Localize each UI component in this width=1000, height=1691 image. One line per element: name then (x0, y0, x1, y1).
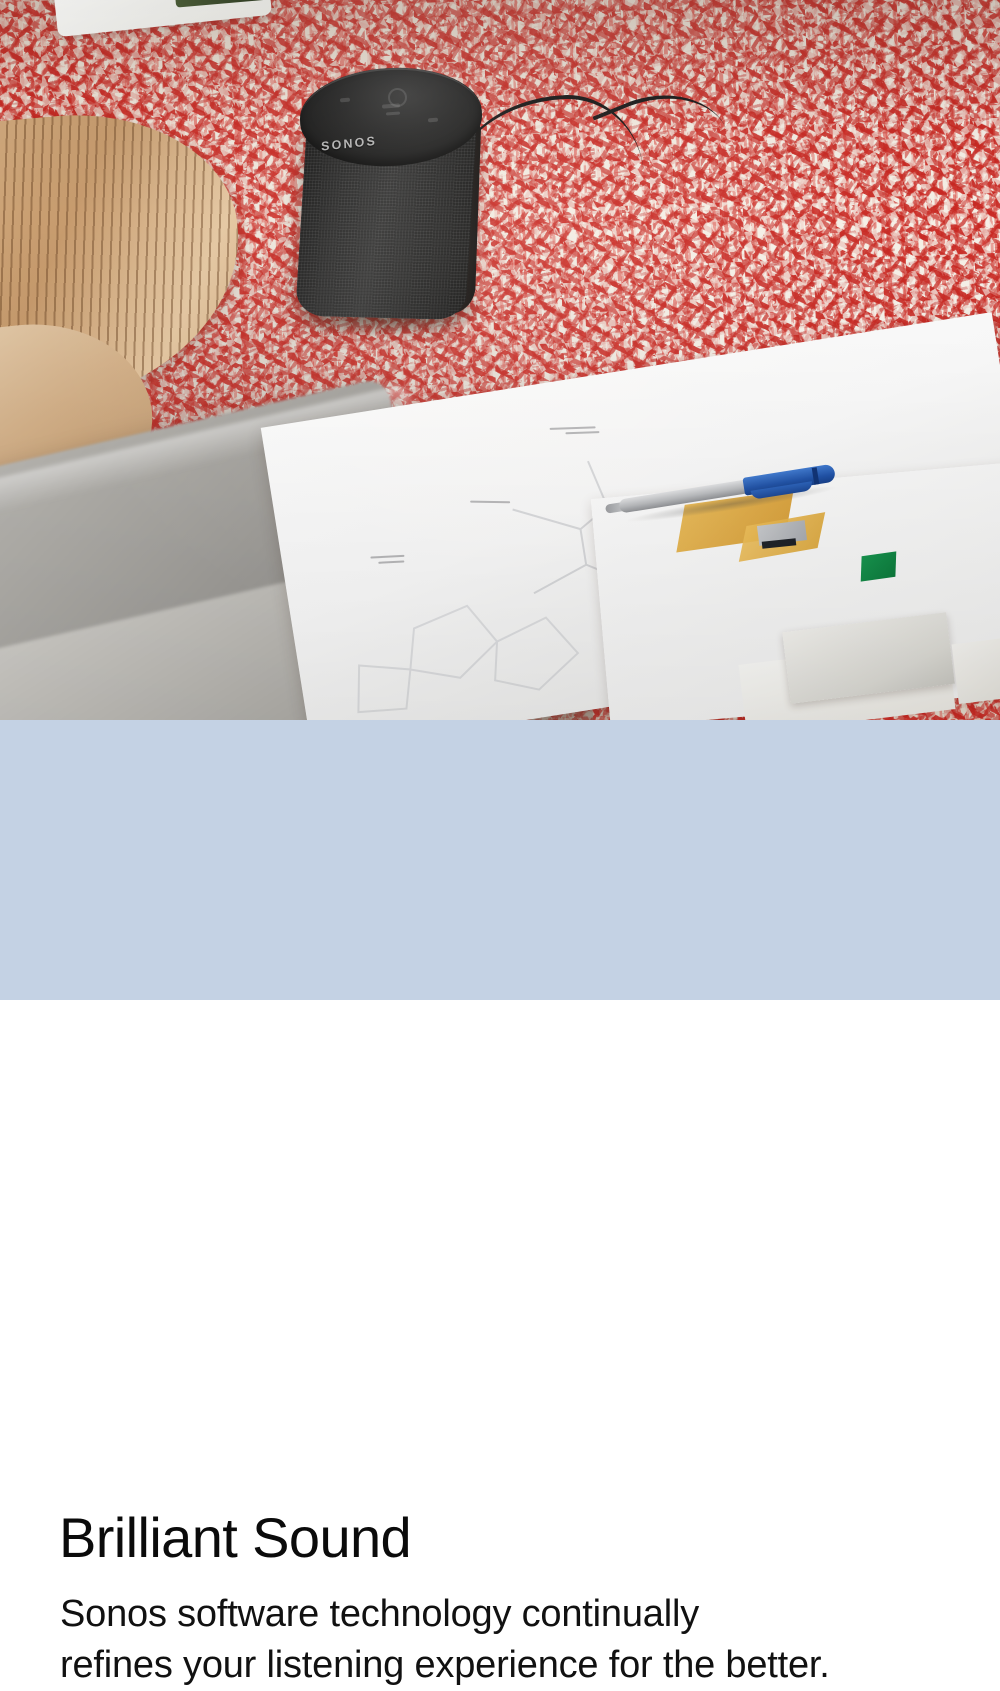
paper-pencil-mark (370, 555, 404, 559)
product-lifestyle-photo: SONOS (0, 0, 1000, 720)
subtitle-line-2: refines your listening experience for th… (60, 1640, 960, 1691)
foam-block-corner (952, 636, 1000, 704)
green-sticker (861, 551, 897, 581)
next-track-icon[interactable] (428, 118, 438, 123)
paper-pencil-mark (565, 431, 599, 434)
paper-pencil-mark (378, 560, 404, 563)
paper-pencil-mark (470, 501, 510, 504)
caption-panel: Brilliant Sound Sonos software technolog… (0, 720, 1000, 1000)
paper-pencil-mark (550, 426, 596, 430)
page-title: Brilliant Sound (59, 1510, 411, 1566)
promo-card: SONOS Brilliant Sound Sonos software tec… (0, 0, 1000, 1000)
page-subtitle: Sonos software technology continually re… (60, 1589, 960, 1691)
previous-track-icon[interactable] (340, 98, 350, 103)
subtitle-line-1: Sonos software technology continually (60, 1589, 960, 1640)
sonos-one-speaker: SONOS (296, 62, 496, 324)
